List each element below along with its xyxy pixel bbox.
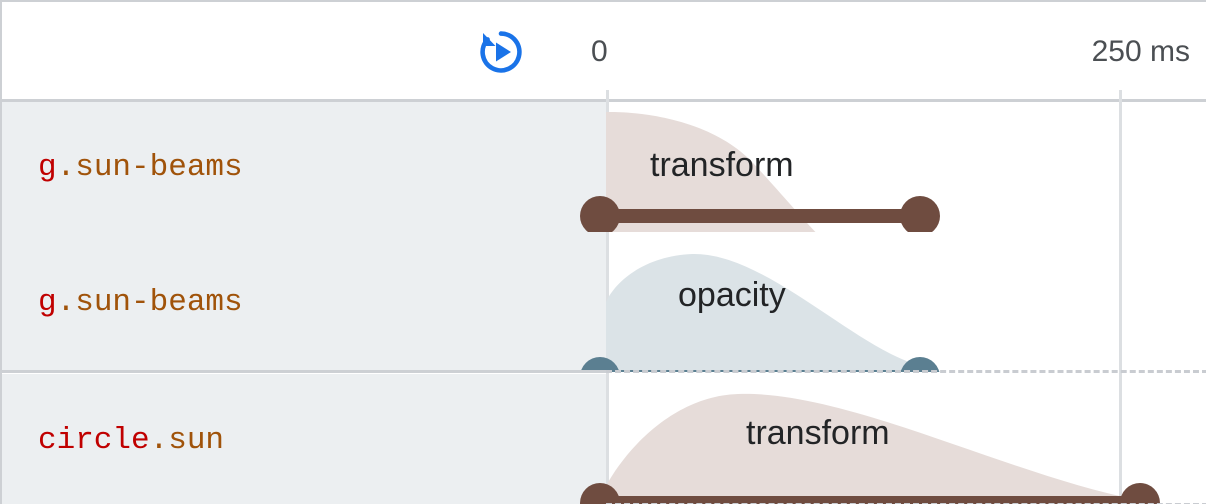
animation-property-name: transform <box>650 146 794 185</box>
animation-group-separator <box>2 370 606 373</box>
animation-keyframe-end[interactable] <box>1120 483 1160 504</box>
animation-property-name: transform <box>746 414 890 453</box>
tick-label-0: 0 <box>591 33 608 71</box>
selector-tag: g <box>38 285 57 320</box>
animation-rows: g.sun-beams transform g.su <box>2 102 1206 504</box>
animations-panel: 0 250 ms g.sun-beams transform <box>0 0 1206 504</box>
replay-icon-glyph <box>478 29 524 75</box>
animation-row[interactable]: g.sun-beams opacity <box>2 232 1206 372</box>
selector-tag: g <box>38 150 57 185</box>
animation-row[interactable]: g.sun-beams transform <box>2 102 1206 232</box>
selector-class: .sun <box>150 423 224 458</box>
animation-selector: g.sun-beams <box>38 150 243 185</box>
row-label-cell[interactable]: g.sun-beams <box>2 232 606 372</box>
selector-class: .sun-beams <box>57 285 243 320</box>
animation-group-separator-dashed <box>606 370 1206 373</box>
timeline-header: 0 250 ms <box>2 2 1206 102</box>
easing-curve <box>606 240 946 370</box>
tick-label-250: 250 ms <box>1092 33 1190 71</box>
row-label-cell[interactable]: g.sun-beams <box>2 102 606 232</box>
selector-class: .sun-beams <box>57 150 243 185</box>
easing-curve <box>606 382 1146 504</box>
animation-row[interactable]: circle.sun transform <box>2 374 1206 504</box>
animation-selector: circle.sun <box>38 423 224 458</box>
animation-keyframe-start[interactable] <box>580 196 620 232</box>
animation-keyframe-end[interactable] <box>900 196 940 232</box>
animation-property-name: opacity <box>678 276 786 315</box>
animation-selector: g.sun-beams <box>38 285 243 320</box>
replay-icon[interactable] <box>478 29 524 75</box>
animation-bar[interactable] <box>600 209 920 223</box>
row-label-cell[interactable]: circle.sun <box>2 374 606 504</box>
selector-tag: circle <box>38 423 150 458</box>
